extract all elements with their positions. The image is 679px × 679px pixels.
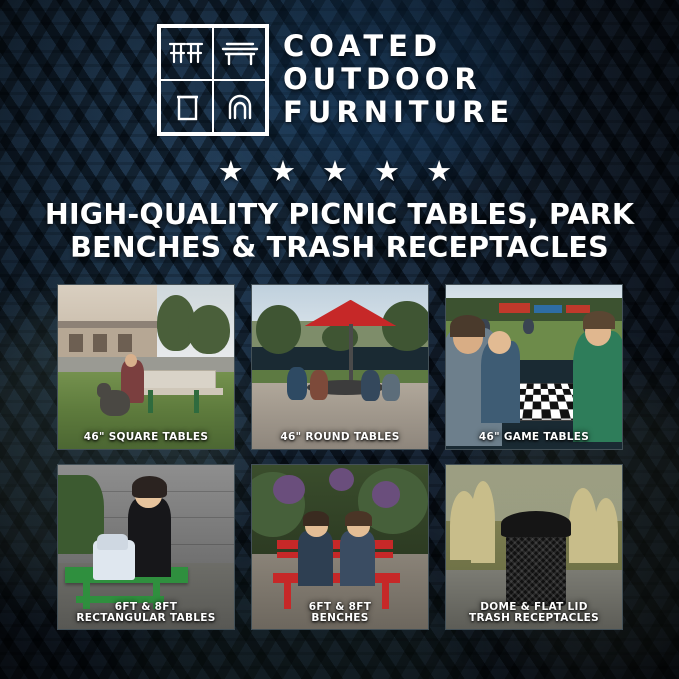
caption-line-1: 6FT & 8FT: [309, 601, 371, 613]
headline-line-2: BENCHES & TRASH RECEPTACLES: [28, 231, 651, 264]
brand-name: COATED OUTDOOR FURNITURE: [283, 32, 514, 128]
caption-line-1: DOME & FLAT LID: [480, 601, 588, 613]
arch-bench-icon: [213, 80, 266, 133]
logo-icon-grid: [157, 24, 269, 136]
square-tables-photo: [58, 285, 234, 449]
product-grid: 46" SQUARE TABLES: [57, 284, 623, 630]
brand-line-2: OUTDOOR: [283, 65, 514, 95]
caption-line-1: 6FT & 8FT: [115, 601, 177, 613]
picnic-tables-icon: [160, 27, 213, 80]
game-tables-photo: [446, 285, 622, 449]
product-tile-rectangular-tables[interactable]: 6FT & 8FT RECTANGULAR TABLES: [57, 464, 235, 630]
product-tile-game-tables[interactable]: 46" GAME TABLES: [445, 284, 623, 450]
product-caption: 46" GAME TABLES: [446, 432, 622, 444]
brand-line-3: FURNITURE: [283, 98, 514, 128]
caption-line-2: RECTANGULAR TABLES: [76, 612, 215, 624]
promotional-poster: COATED OUTDOOR FURNITURE ★ ★ ★ ★ ★ HIGH-…: [0, 0, 679, 679]
star-rating: ★ ★ ★ ★ ★: [0, 158, 679, 187]
product-caption: 46" ROUND TABLES: [252, 432, 428, 444]
product-tile-square-tables[interactable]: 46" SQUARE TABLES: [57, 284, 235, 450]
product-tile-round-tables[interactable]: 46" ROUND TABLES: [251, 284, 429, 450]
caption-line-2: BENCHES: [311, 612, 368, 624]
product-caption: 46" SQUARE TABLES: [58, 432, 234, 444]
product-caption: 6FT & 8FT RECTANGULAR TABLES: [58, 602, 234, 626]
bench-icon: [213, 27, 266, 80]
trash-receptacle-icon: [160, 80, 213, 133]
brand-logo: COATED OUTDOOR FURNITURE: [157, 24, 514, 136]
product-caption: 6FT & 8FT BENCHES: [252, 602, 428, 626]
page-title: HIGH-QUALITY PICNIC TABLES, PARK BENCHES…: [0, 198, 679, 264]
round-tables-photo: [252, 285, 428, 449]
brand-line-1: COATED: [283, 32, 514, 62]
caption-line-2: TRASH RECEPTACLES: [469, 612, 599, 624]
product-tile-trash-receptacles[interactable]: DOME & FLAT LID TRASH RECEPTACLES: [445, 464, 623, 630]
headline-line-1: HIGH-QUALITY PICNIC TABLES, PARK: [45, 198, 634, 231]
product-caption: DOME & FLAT LID TRASH RECEPTACLES: [446, 602, 622, 626]
product-tile-benches[interactable]: 6FT & 8FT BENCHES: [251, 464, 429, 630]
